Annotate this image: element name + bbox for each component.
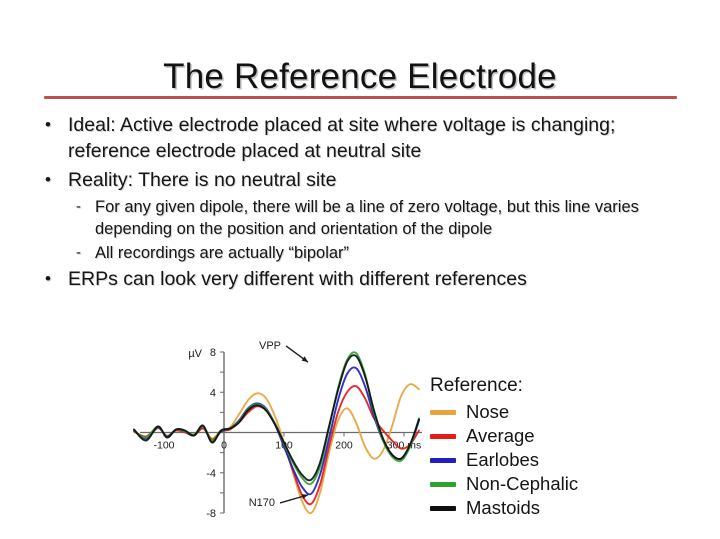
legend-color-swatch [430,458,456,463]
y-tick-label: -4 [206,468,216,480]
x-tick-label: -100 [153,440,174,452]
legend-color-swatch [430,482,456,487]
dot-bullet-icon: • [45,112,59,138]
bullet-item: -For any given dipole, there will be a l… [0,196,720,240]
legend-title: Reference: [430,374,700,398]
legend-label: Mastoids [466,497,540,519]
bullet-item: -All recordings are actually “bipolar” [0,242,720,264]
bullet-item: •ERPs can look very different with diffe… [0,266,720,292]
dot-bullet-icon: • [45,167,59,193]
x-tick-label: 0 [221,440,227,452]
dash-bullet-icon: - [76,196,90,218]
legend-item: Earlobes [430,448,700,472]
y-tick-label: 8 [210,347,216,359]
legend-rows: NoseAverageEarlobesNon-CephalicMastoids [430,400,700,520]
slide-canvas: The Reference Electrode •Ideal: Active e… [0,0,720,539]
legend-label: Earlobes [466,449,539,471]
bullet-text: Reality: There is no neutral site [68,167,696,193]
plot-annotation-label: N170 [249,497,275,509]
legend-label: Non-Cephalic [466,473,578,495]
legend-item: Nose [430,400,700,424]
bullet-text: Ideal: Active electrode placed at site w… [68,112,696,164]
bullet-text: For any given dipole, there will be a li… [95,196,696,240]
y-axis-label: µV [188,348,202,360]
y-tick-label: -8 [206,508,216,520]
plot-annotation-label: VPP [259,340,281,352]
legend-color-swatch [430,410,456,415]
bullet-item: •Reality: There is no neutral site [0,167,720,193]
x-tick-label: 200 [335,440,353,452]
page-title: The Reference Electrode [0,57,720,97]
legend-item: Mastoids [430,496,700,520]
legend-color-swatch [430,434,456,439]
erp-waveform-svg: -1000100200300 ms-8-448µV VPPN170 [78,340,428,539]
y-tick-label: 4 [210,387,216,399]
dot-bullet-icon: • [45,266,59,292]
erp-figure: -1000100200300 ms-8-448µV VPPN170 Refere… [78,340,720,539]
dash-bullet-icon: - [76,242,90,264]
bullet-text: All recordings are actually “bipolar” [95,242,696,264]
legend-color-swatch [430,506,456,511]
title-divider [44,96,677,99]
chart-legend: Reference: NoseAverageEarlobesNon-Cephal… [430,374,700,520]
legend-item: Average [430,424,700,448]
bullet-item: •Ideal: Active electrode placed at site … [0,112,720,164]
erp-waveform-plot: -1000100200300 ms-8-448µV VPPN170 [78,340,428,539]
bullet-text: ERPs can look very different with differ… [68,266,696,292]
legend-label: Nose [466,401,509,423]
legend-label: Average [466,425,535,447]
bullet-list: •Ideal: Active electrode placed at site … [0,112,720,295]
legend-item: Non-Cephalic [430,472,700,496]
